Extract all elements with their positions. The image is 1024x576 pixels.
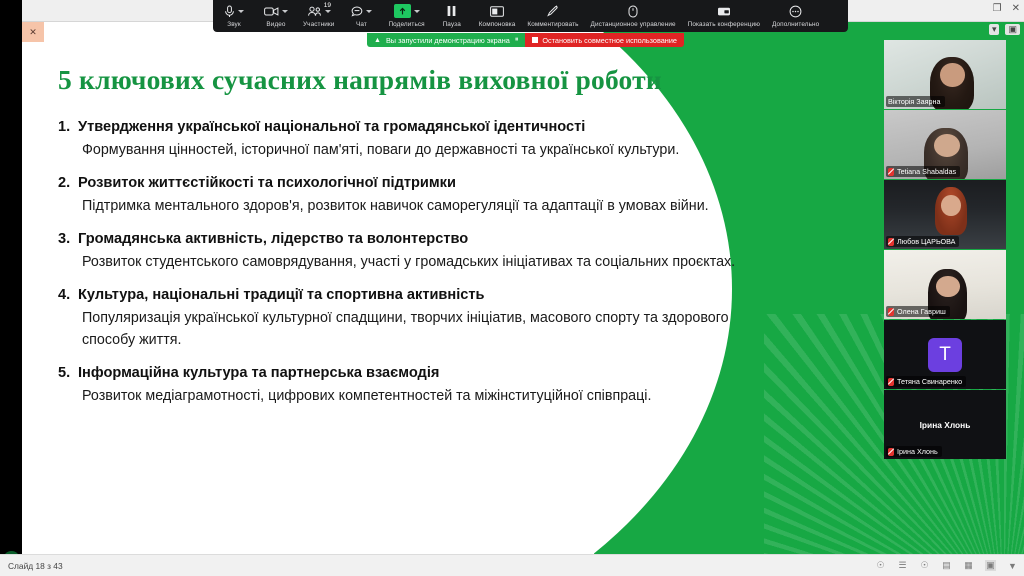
- toolbar-more-button[interactable]: Дополнительно: [766, 0, 825, 32]
- screen-share-notification-bar: ▲ Вы запустили демонстрацию экрана ⏸ Ост…: [367, 33, 684, 47]
- share-status-chip: ▲ Вы запустили демонстрацию экрана ⏸: [367, 33, 525, 47]
- participant-tile[interactable]: Олена Гавриш: [884, 250, 1006, 319]
- toolbar-show-meeting-button[interactable]: Показать конференцию: [682, 0, 766, 32]
- zoom-meeting-toolbar: Звук Видео 19: [213, 0, 848, 32]
- toolbar-video-button[interactable]: Видео: [255, 0, 297, 32]
- participant-name-badge: Ірина Хлонь: [886, 446, 942, 457]
- chevron-down-icon[interactable]: [366, 10, 372, 13]
- toolbar-label: Участники: [303, 21, 334, 29]
- bullet-heading: Громадянська активність, лідерство та во…: [78, 230, 774, 250]
- participant-name: Олена Гавриш: [897, 307, 946, 316]
- bullet-description: Формування цінностей, історичної пам'яті…: [78, 139, 774, 161]
- share-screen-icon: [394, 4, 411, 18]
- toolbar-label: Поделиться: [388, 21, 424, 29]
- toolbar-label: Видео: [266, 21, 285, 29]
- participant-tile[interactable]: Любов ЦАРЬОВА: [884, 180, 1006, 249]
- microphone-icon: [224, 5, 235, 18]
- muted-microphone-icon: [888, 448, 894, 456]
- toolbar-remote-control-button[interactable]: Дистанционное управление: [585, 0, 682, 32]
- toolbar-label: Дистанционное управление: [591, 21, 676, 29]
- toolbar-audio-button[interactable]: Звук: [213, 0, 255, 32]
- participant-name: Тетяна Свинаренко: [897, 377, 962, 386]
- maximize-icon[interactable]: ▣: [1005, 24, 1020, 35]
- slide-title: 5 ключових сучасних напрямів виховної ро…: [58, 64, 758, 96]
- participants-icon: [307, 6, 322, 17]
- share-status-text: Вы запустили демонстрацию экрана: [386, 36, 510, 45]
- participant-display-name: Ірина Хлонь: [884, 420, 1006, 430]
- muted-microphone-icon: [888, 378, 894, 386]
- annotate-pencil-icon: [547, 5, 559, 17]
- toolbar-label: Показать конференцию: [688, 21, 760, 29]
- bullet-heading: Утвердження української національної та …: [78, 118, 774, 138]
- slide-counter: Слайд 18 з 43: [8, 561, 63, 571]
- participant-tile[interactable]: Tetiana Shabaldas: [884, 110, 1006, 179]
- minimize-icon[interactable]: ▾: [989, 24, 1000, 35]
- accessibility-icon[interactable]: ☉: [875, 560, 886, 571]
- pause-share-icon[interactable]: ⏸: [515, 36, 519, 44]
- pause-icon: [446, 5, 457, 17]
- toolbar-label: Дополнительно: [772, 21, 819, 29]
- bullet-item: 5. Інформаційна культура та партнерська …: [58, 364, 774, 407]
- toolbar-label: Комментировать: [527, 21, 578, 29]
- toolbar-share-button[interactable]: Поделиться: [382, 0, 430, 32]
- toolbar-layout-button[interactable]: Компоновка: [473, 0, 522, 32]
- bullet-item: 1. Утвердження української національної …: [58, 118, 774, 161]
- remote-control-icon: [628, 5, 638, 18]
- participant-name-badge: Любов ЦАРЬОВА: [886, 236, 959, 247]
- status-bar-icons: ☉ ☰ ☉ ▤ ▦ ▣ ▼: [875, 560, 1018, 571]
- bullet-number: 4.: [58, 286, 78, 351]
- stop-share-label: Остановить совместное использование: [542, 36, 677, 45]
- participant-name: Любов ЦАРЬОВА: [897, 237, 955, 246]
- participant-name: Ірина Хлонь: [897, 447, 938, 456]
- presentation-slide: 5 ключових сучасних напрямів виховної ро…: [22, 22, 1024, 554]
- chevron-down-icon[interactable]: [414, 10, 420, 13]
- participant-avatar: T: [928, 338, 962, 372]
- more-dots-icon: [789, 5, 802, 18]
- bullet-heading: Культура, національні традиції та спорти…: [78, 286, 774, 306]
- toolbar-participants-button[interactable]: 19 Участники: [297, 0, 340, 32]
- muted-microphone-icon: [888, 238, 894, 246]
- participant-name-badge: Олена Гавриш: [886, 306, 950, 317]
- toolbar-label: Компоновка: [479, 21, 516, 29]
- toolbar-label: Чат: [356, 21, 367, 29]
- bullet-number: 1.: [58, 118, 78, 161]
- participant-tile[interactable]: Вікторія Заярна: [884, 40, 1006, 109]
- bullet-number: 3.: [58, 230, 78, 273]
- bullet-item: 3. Громадянська активність, лідерство та…: [58, 230, 774, 273]
- sorter-view-icon[interactable]: ▦: [963, 560, 974, 571]
- camera-icon: [264, 6, 279, 17]
- bullet-description: Розвиток студентського самоврядування, у…: [78, 251, 774, 273]
- bullet-heading: Інформаційна культура та партнерська вза…: [78, 364, 774, 384]
- participant-name: Вікторія Заярна: [888, 97, 941, 106]
- toolbar-label: Звук: [227, 21, 241, 29]
- bullet-number: 2.: [58, 174, 78, 217]
- chevron-down-icon[interactable]: [325, 10, 331, 13]
- toolbar-chat-button[interactable]: Чат: [340, 0, 382, 32]
- participant-name-badge: Tetiana Shabaldas: [886, 166, 960, 177]
- show-meeting-icon: [717, 6, 731, 17]
- restore-icon[interactable]: ❐: [993, 3, 1002, 14]
- participant-filmstrip: Вікторія Заярна Tetiana Shabaldas Любов …: [884, 40, 1006, 460]
- slideshow-icon[interactable]: ▼: [1007, 560, 1018, 571]
- participant-tile[interactable]: T Тетяна Свинаренко: [884, 320, 1006, 389]
- close-icon[interactable]: ✕: [1012, 3, 1020, 14]
- taskbar-tab-close[interactable]: ✕: [22, 22, 44, 42]
- comments-icon[interactable]: ☉: [919, 560, 930, 571]
- normal-view-icon[interactable]: ▤: [941, 560, 952, 571]
- participant-name-badge: Тетяна Свинаренко: [886, 376, 966, 387]
- notes-icon[interactable]: ☰: [897, 560, 908, 571]
- toolbar-pause-button[interactable]: Пауза: [431, 0, 473, 32]
- bullet-description: Популяризація української культурної спа…: [78, 307, 774, 351]
- participants-count-badge: 19: [324, 2, 331, 9]
- chat-icon: [351, 6, 363, 17]
- muted-microphone-icon: [888, 168, 894, 176]
- stop-share-button[interactable]: Остановить совместное использование: [525, 33, 684, 47]
- taskbar-tab-blank[interactable]: [44, 22, 84, 42]
- toolbar-label: Пауза: [443, 21, 461, 29]
- bullet-heading: Розвиток життєстійкості та психологічної…: [78, 174, 774, 194]
- participant-tile[interactable]: Ірина Хлонь Ірина Хлонь: [884, 390, 1006, 459]
- bullet-item: 2. Розвиток життєстійкості та психологіч…: [58, 174, 774, 217]
- powerpoint-status-bar: Слайд 18 з 43 ☉ ☰ ☉ ▤ ▦ ▣ ▼: [0, 554, 1024, 576]
- participant-name: Tetiana Shabaldas: [897, 167, 956, 176]
- left-black-rail: ✎: [0, 0, 22, 576]
- layout-icon: [490, 6, 504, 17]
- bullet-description: Підтримка ментального здоров'я, розвиток…: [78, 195, 774, 217]
- screen-share-icon: ▲: [374, 37, 381, 44]
- participant-name-badge: Вікторія Заярна: [886, 96, 945, 107]
- chevron-down-icon[interactable]: [238, 10, 244, 13]
- stop-square-icon: [532, 37, 538, 43]
- toolbar-annotate-button[interactable]: Комментировать: [521, 0, 584, 32]
- muted-microphone-icon: [888, 308, 894, 316]
- slide-bullet-list: 1. Утвердження української національної …: [58, 118, 774, 420]
- chevron-down-icon[interactable]: [282, 10, 288, 13]
- bullet-number: 5.: [58, 364, 78, 407]
- bullet-description: Розвиток медіаграмотності, цифрових комп…: [78, 385, 774, 407]
- reading-view-icon[interactable]: ▣: [985, 560, 996, 571]
- bullet-item: 4. Культура, національні традиції та спо…: [58, 286, 774, 351]
- screen-root: 5 ключових сучасних напрямів виховної ро…: [0, 0, 1024, 576]
